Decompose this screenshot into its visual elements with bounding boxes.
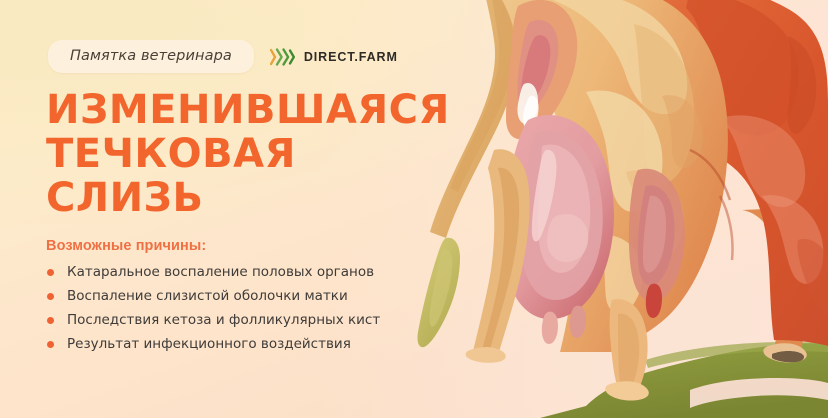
bullet-dot-icon <box>47 341 54 348</box>
brand-logo[interactable]: DIRECT.FARM <box>270 47 398 67</box>
list-item: Катаральное воспаление половых органов <box>46 263 446 282</box>
headline-line-3: СЛИЗЬ <box>46 176 476 220</box>
page-title: ИЗМЕНИВШАЯСЯ ТЕЧКОВАЯ СЛИЗЬ <box>46 88 476 220</box>
brand-name-label: DIRECT.FARM <box>304 50 398 64</box>
causes-section: Возможные причины: Катаральное воспалени… <box>46 238 446 359</box>
veterinary-infographic-poster: Памятка ветеринара DIRECT.FARM ИЗМЕНИВША… <box>0 0 828 418</box>
bullet-dot-icon <box>47 269 54 276</box>
list-item-label: Результат инфекционного воздействия <box>67 335 351 354</box>
list-item: Воспаление слизистой оболочки матки <box>46 287 446 306</box>
cow-teat-left <box>542 312 558 344</box>
cow-near-leg-left <box>472 149 530 356</box>
badge-label: Памятка ветеринара <box>70 48 232 64</box>
list-item-label: Воспаление слизистой оболочки матки <box>67 287 348 306</box>
headline-line-1: ИЗМЕНИВШАЯСЯ <box>46 88 476 132</box>
list-item-label: Последствия кетоза и фолликулярных кист <box>67 311 380 330</box>
list-item: Результат инфекционного воздействия <box>46 335 446 354</box>
headline-line-2: ТЕЧКОВАЯ <box>46 132 476 176</box>
bullet-dot-icon <box>47 317 54 324</box>
veterinarian-memo-badge: Памятка ветеринара <box>48 40 254 73</box>
list-item: Последствия кетоза и фолликулярных кист <box>46 311 446 330</box>
list-item-label: Катаральное воспаление половых органов <box>67 263 374 282</box>
chevron-stack-icon <box>270 47 296 67</box>
bullet-dot-icon <box>47 293 54 300</box>
header-row: Памятка ветеринара DIRECT.FARM <box>48 40 398 73</box>
causes-heading: Возможные причины: <box>46 238 446 254</box>
